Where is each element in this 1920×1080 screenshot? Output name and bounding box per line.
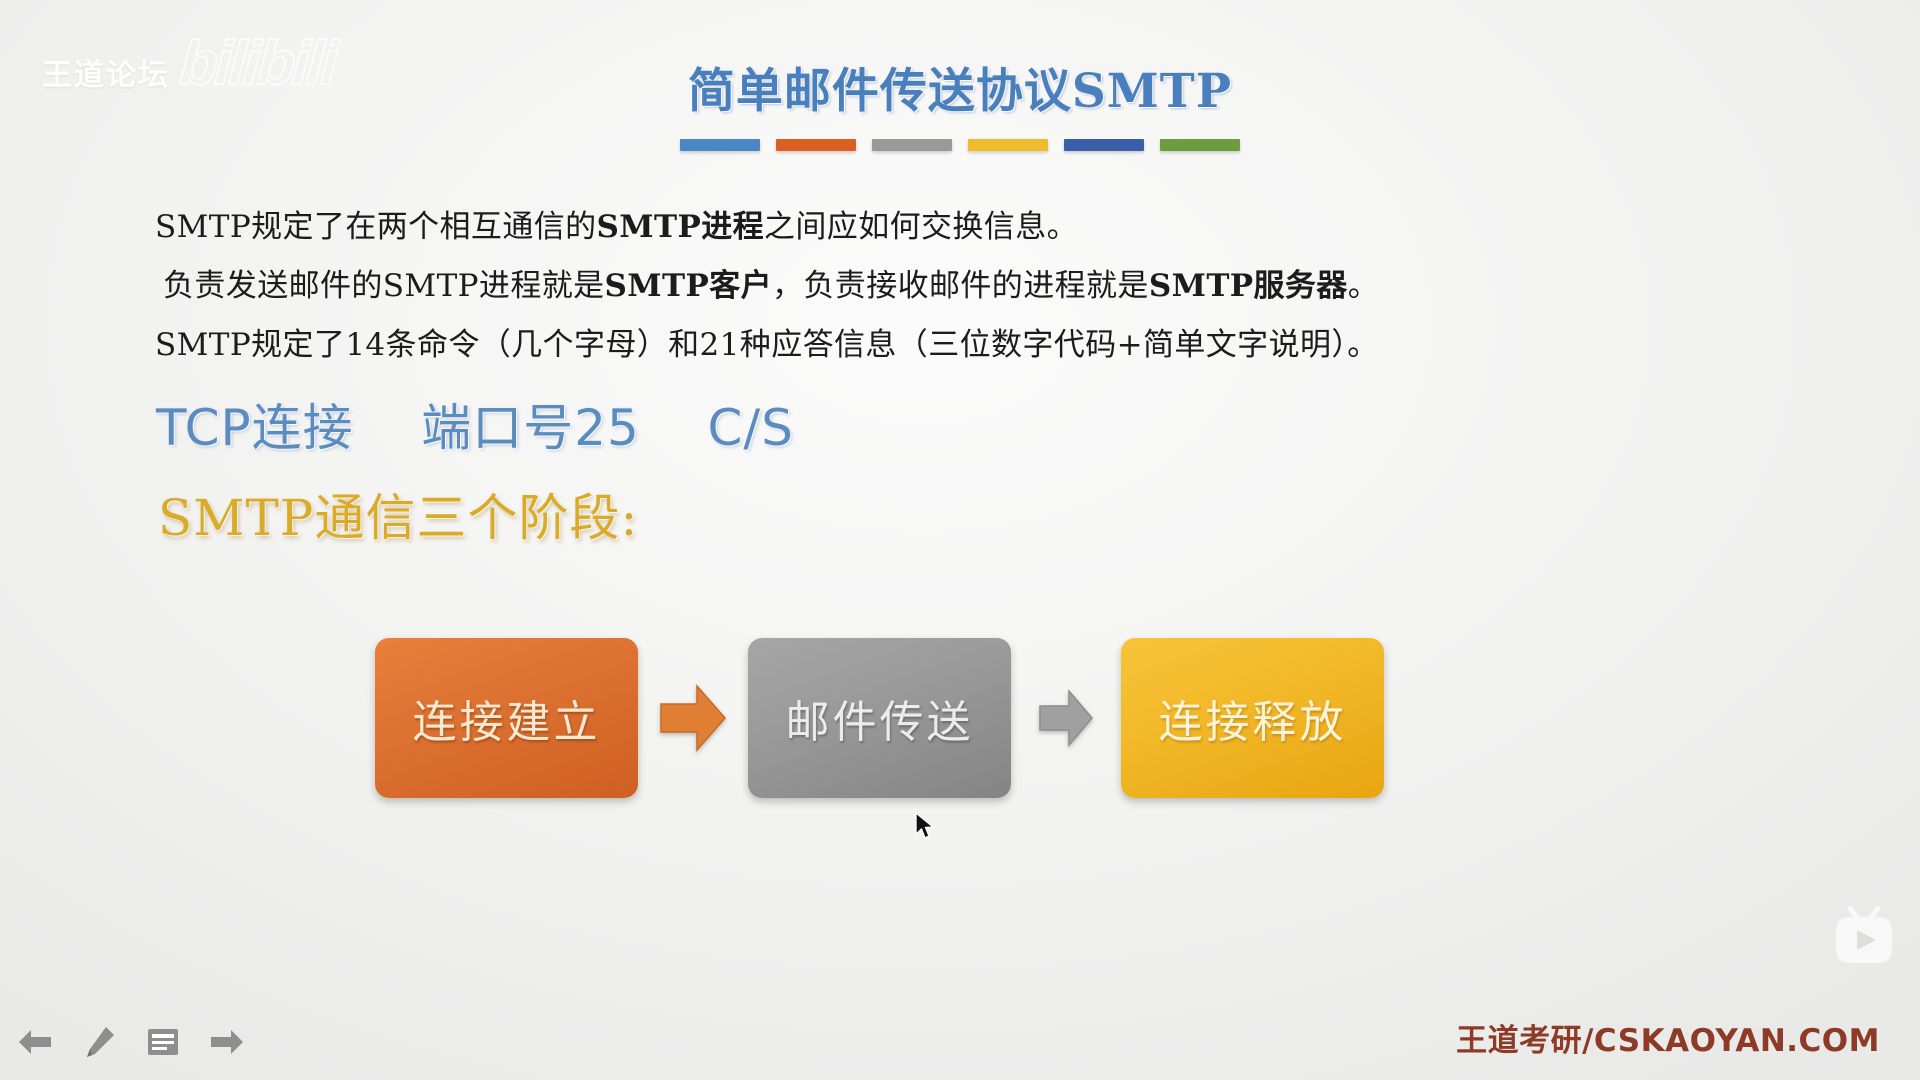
smtp-phases-flow: 连接建立 邮件传送 连接释放	[375, 638, 1384, 798]
accent-bar-orange	[776, 139, 856, 151]
body-line-2-bold-client: SMTP客户	[605, 268, 772, 304]
flow-step-mail-transfer: 邮件传送	[748, 638, 1011, 798]
arrow-right-icon	[659, 682, 727, 754]
accent-bar-row	[0, 139, 1920, 151]
bilibili-tv-icon	[1830, 902, 1898, 968]
slide-title: 简单邮件传送协议SMTP	[0, 52, 1920, 121]
notes-icon	[147, 1028, 179, 1056]
body-text-block: SMTP规定了在两个相互通信的SMTP进程之间应如何交换信息。 负责发送邮件的S…	[155, 198, 1715, 375]
body-line-1-part-c: 之间应如何交换信息。	[764, 209, 1078, 245]
mouse-cursor	[915, 812, 937, 842]
arrow-left-icon	[18, 1027, 52, 1057]
notes-button[interactable]	[142, 1022, 184, 1062]
accent-bar-yellow	[968, 139, 1048, 151]
accent-bar-navy	[1064, 139, 1144, 151]
body-line-2-part-a: 负责发送邮件的SMTP进程就是	[163, 268, 605, 304]
player-toolbar[interactable]	[14, 1022, 248, 1062]
prev-slide-button[interactable]	[14, 1022, 56, 1062]
arrow-right-icon	[210, 1027, 244, 1057]
body-line-3: SMTP规定了14条命令（几个字母）和21种应答信息（三位数字代码+简单文字说明…	[155, 316, 1715, 375]
arrow-right-icon	[1038, 688, 1094, 748]
accent-bar-gray	[872, 139, 952, 151]
flow-step-connection-release: 连接释放	[1121, 638, 1384, 798]
flow-step-connection-setup: 连接建立	[375, 638, 638, 798]
body-line-2-bold-server: SMTP服务器	[1149, 268, 1348, 304]
body-line-2-part-e: 。	[1348, 268, 1379, 304]
blue-heading: TCP连接 端口号25 C/S	[156, 388, 794, 460]
pencil-icon	[83, 1026, 115, 1058]
footer-brand-text: 王道考研/CSKAOYAN.COM	[1456, 1015, 1880, 1060]
body-line-2-part-c: ，负责接收邮件的进程就是	[772, 268, 1149, 304]
body-line-1-bold: SMTP进程	[597, 209, 764, 245]
pen-button[interactable]	[78, 1022, 120, 1062]
body-line-1: SMTP规定了在两个相互通信的SMTP进程之间应如何交换信息。	[155, 198, 1715, 257]
body-line-2: 负责发送邮件的SMTP进程就是SMTP客户，负责接收邮件的进程就是SMTP服务器…	[155, 257, 1715, 316]
accent-bar-green	[1160, 139, 1240, 151]
next-slide-button[interactable]	[206, 1022, 248, 1062]
accent-bar-blue	[680, 139, 760, 151]
gold-heading: SMTP通信三个阶段:	[158, 478, 638, 550]
flow-arrow-2-wrapper	[1011, 688, 1121, 748]
slide-canvas: 王道论坛 bilibili 简单邮件传送协议SMTP SMTP规定了在两个相互通…	[0, 0, 1920, 1080]
flow-arrow-1-wrapper	[638, 682, 748, 754]
body-line-1-part-a: SMTP规定了在两个相互通信的	[155, 209, 597, 245]
